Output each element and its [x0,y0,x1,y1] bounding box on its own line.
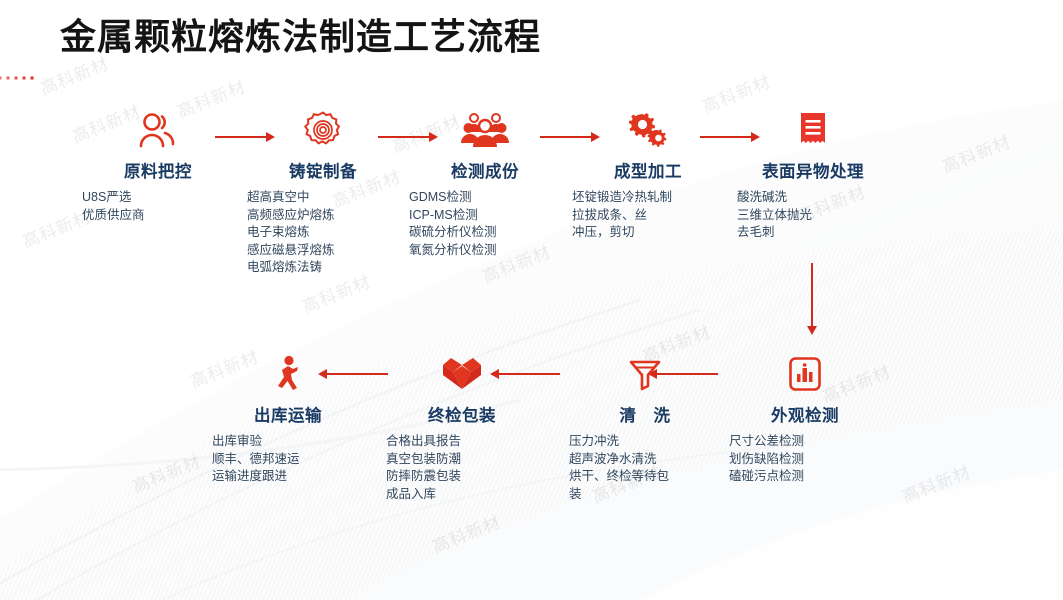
step-detail-lines: 酸洗碱洗 三维立体抛光 去毛刺 [733,189,893,242]
arrow-left-step8-step9 [318,368,388,380]
detail-line: 运输进度跟进 [212,468,368,486]
detail-line: 优质供应商 [82,207,238,225]
detail-line: 合格出具报告 [386,433,542,451]
detail-line: 防摔防震包装 [386,468,542,486]
detail-line: 氧氮分析仪检测 [409,242,565,260]
detail-line: 划伤缺陷检测 [729,451,885,469]
step-detail-lines: 出库审验 顺丰、德邦速运 运输进度跟进 [208,433,368,486]
step-detail-lines: GDMS检测 ICP-MS检测 碳硫分析仪检测 氧氮分析仪检测 [405,189,565,259]
detail-line: 烘干、终检等待包装 [569,468,680,503]
process-step-forming[interactable]: 成型加工 坯锭锻造冷热轧制 拉拔成条、丝 冲压，剪切 [568,108,728,242]
inspection-badge-icon [725,352,885,396]
step-title: 铸锭制备 [243,158,403,182]
step-detail-lines: 合格出具报告 真空包装防潮 防摔防震包装 成品入库 [382,433,542,503]
process-step-surface-treatment[interactable]: 表面异物处理 酸洗碱洗 三维立体抛光 去毛刺 [733,108,893,242]
people-group-icon [405,108,565,152]
detail-line: 去毛刺 [737,224,893,242]
step-title: 清 洗 [565,402,725,426]
cogs-icon [568,108,728,152]
process-step-appearance-inspection[interactable]: 外观检测 尺寸公差检测 划伤缺陷检测 磕碰污点检测 [725,352,885,486]
arrow-right-step4-step5 [700,131,760,143]
detail-line: 三维立体抛光 [737,207,893,225]
step-title: 终检包装 [382,402,542,426]
detail-line: 高频感应炉熔炼 [247,207,403,225]
detail-line: 真空包装防潮 [386,451,542,469]
step-title: 外观检测 [725,402,885,426]
step-detail-lines: 坯锭锻造冷热轧制 拉拔成条、丝 冲压，剪切 [568,189,728,242]
step-detail-lines: 尺寸公差检测 划伤缺陷检测 磕碰污点检测 [725,433,885,486]
arrow-right-step3-step4 [540,131,600,143]
arrow-right-step2-step3 [378,131,438,143]
gear-ingot-icon [243,108,403,152]
arrow-left-step6-step7 [648,368,718,380]
detail-line: 超声波净水清洗 [569,451,680,469]
step-title: 表面异物处理 [733,158,893,182]
detail-line: 拉拔成条、丝 [572,207,728,225]
step-title: 成型加工 [568,158,728,182]
step-detail-lines: 超高真空中 高频感应炉熔炼 电子束熔炼 感应磁悬浮熔炼 电弧熔炼法铸 [243,189,403,277]
step-title: 出库运输 [208,402,368,426]
process-flow-diagram: 原料把控 U8S严选 优质供应商 铸锭制备 超高真空中 高频感应炉熔炼 电子束熔… [0,0,1063,600]
process-step-raw-material[interactable]: 原料把控 U8S严选 优质供应商 [78,108,238,224]
step-title: 检测成份 [405,158,565,182]
two-users-outline-icon [78,108,238,152]
detail-line: 电子束熔炼 [247,224,403,242]
detail-line: 电弧熔炼法铸 [247,259,403,277]
detail-line: 冲压，剪切 [572,224,728,242]
detail-line: 成品入库 [386,486,542,504]
detail-line: ICP-MS检测 [409,207,565,225]
step-title: 原料把控 [78,158,238,182]
detail-line: GDMS检测 [409,189,565,207]
document-stack-icon [733,108,893,152]
arrow-right-step1-step2 [215,131,275,143]
detail-line: 磕碰污点检测 [729,468,885,486]
step-detail-lines: U8S严选 优质供应商 [78,189,238,224]
detail-line: 碳硫分析仪检测 [409,224,565,242]
detail-line: 出库审验 [212,433,368,451]
detail-line: 坯锭锻造冷热轧制 [572,189,728,207]
detail-line: 压力冲洗 [569,433,680,451]
detail-line: 超高真空中 [247,189,403,207]
detail-line: 尺寸公差检测 [729,433,885,451]
arrow-down-step5-step6 [806,263,818,335]
detail-line: 酸洗碱洗 [737,189,893,207]
arrow-left-step7-step8 [490,368,560,380]
detail-line: 感应磁悬浮熔炼 [247,242,403,260]
detail-line: U8S严选 [82,189,238,207]
detail-line: 顺丰、德邦速运 [212,451,368,469]
step-detail-lines: 压力冲洗 超声波净水清洗 烘干、终检等待包装 [565,433,680,503]
